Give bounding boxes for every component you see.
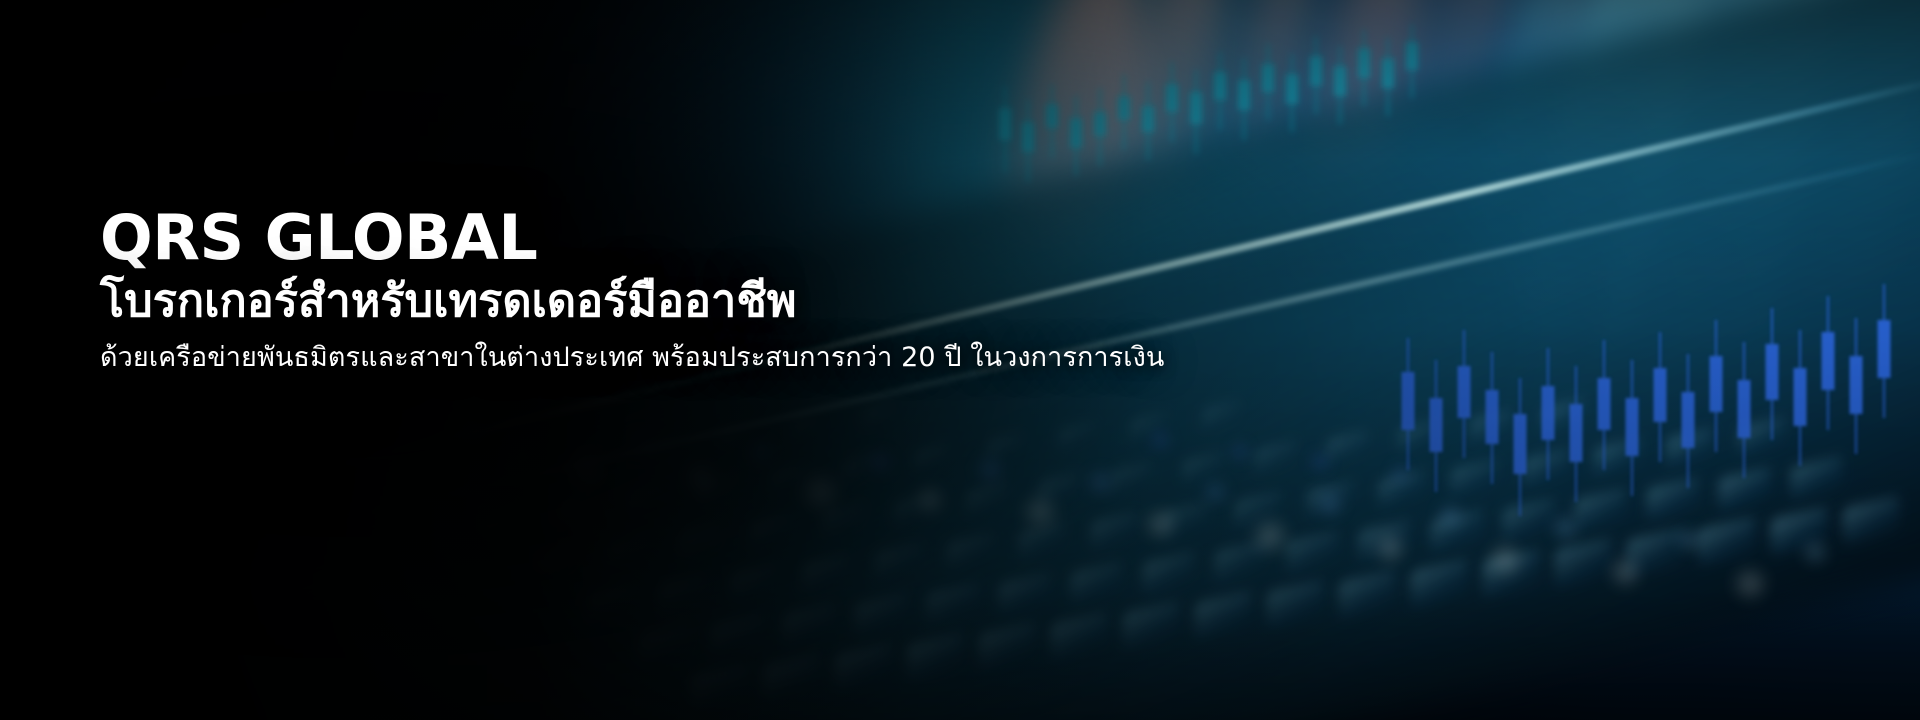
hero-subline: ด้วยเครือข่ายพันธมิตรและสาขาในต่างประเทศ…: [100, 340, 1400, 375]
hero-banner: QRS GLOBAL โบรกเกอร์สำหรับเทรดเดอร์มืออา…: [0, 0, 1920, 720]
hero-text-block: QRS GLOBAL โบรกเกอร์สำหรับเทรดเดอร์มืออา…: [100, 206, 1400, 375]
hero-headline: โบรกเกอร์สำหรับเทรดเดอร์มืออาชีพ: [100, 274, 1400, 328]
page-title: QRS GLOBAL: [100, 206, 1400, 270]
